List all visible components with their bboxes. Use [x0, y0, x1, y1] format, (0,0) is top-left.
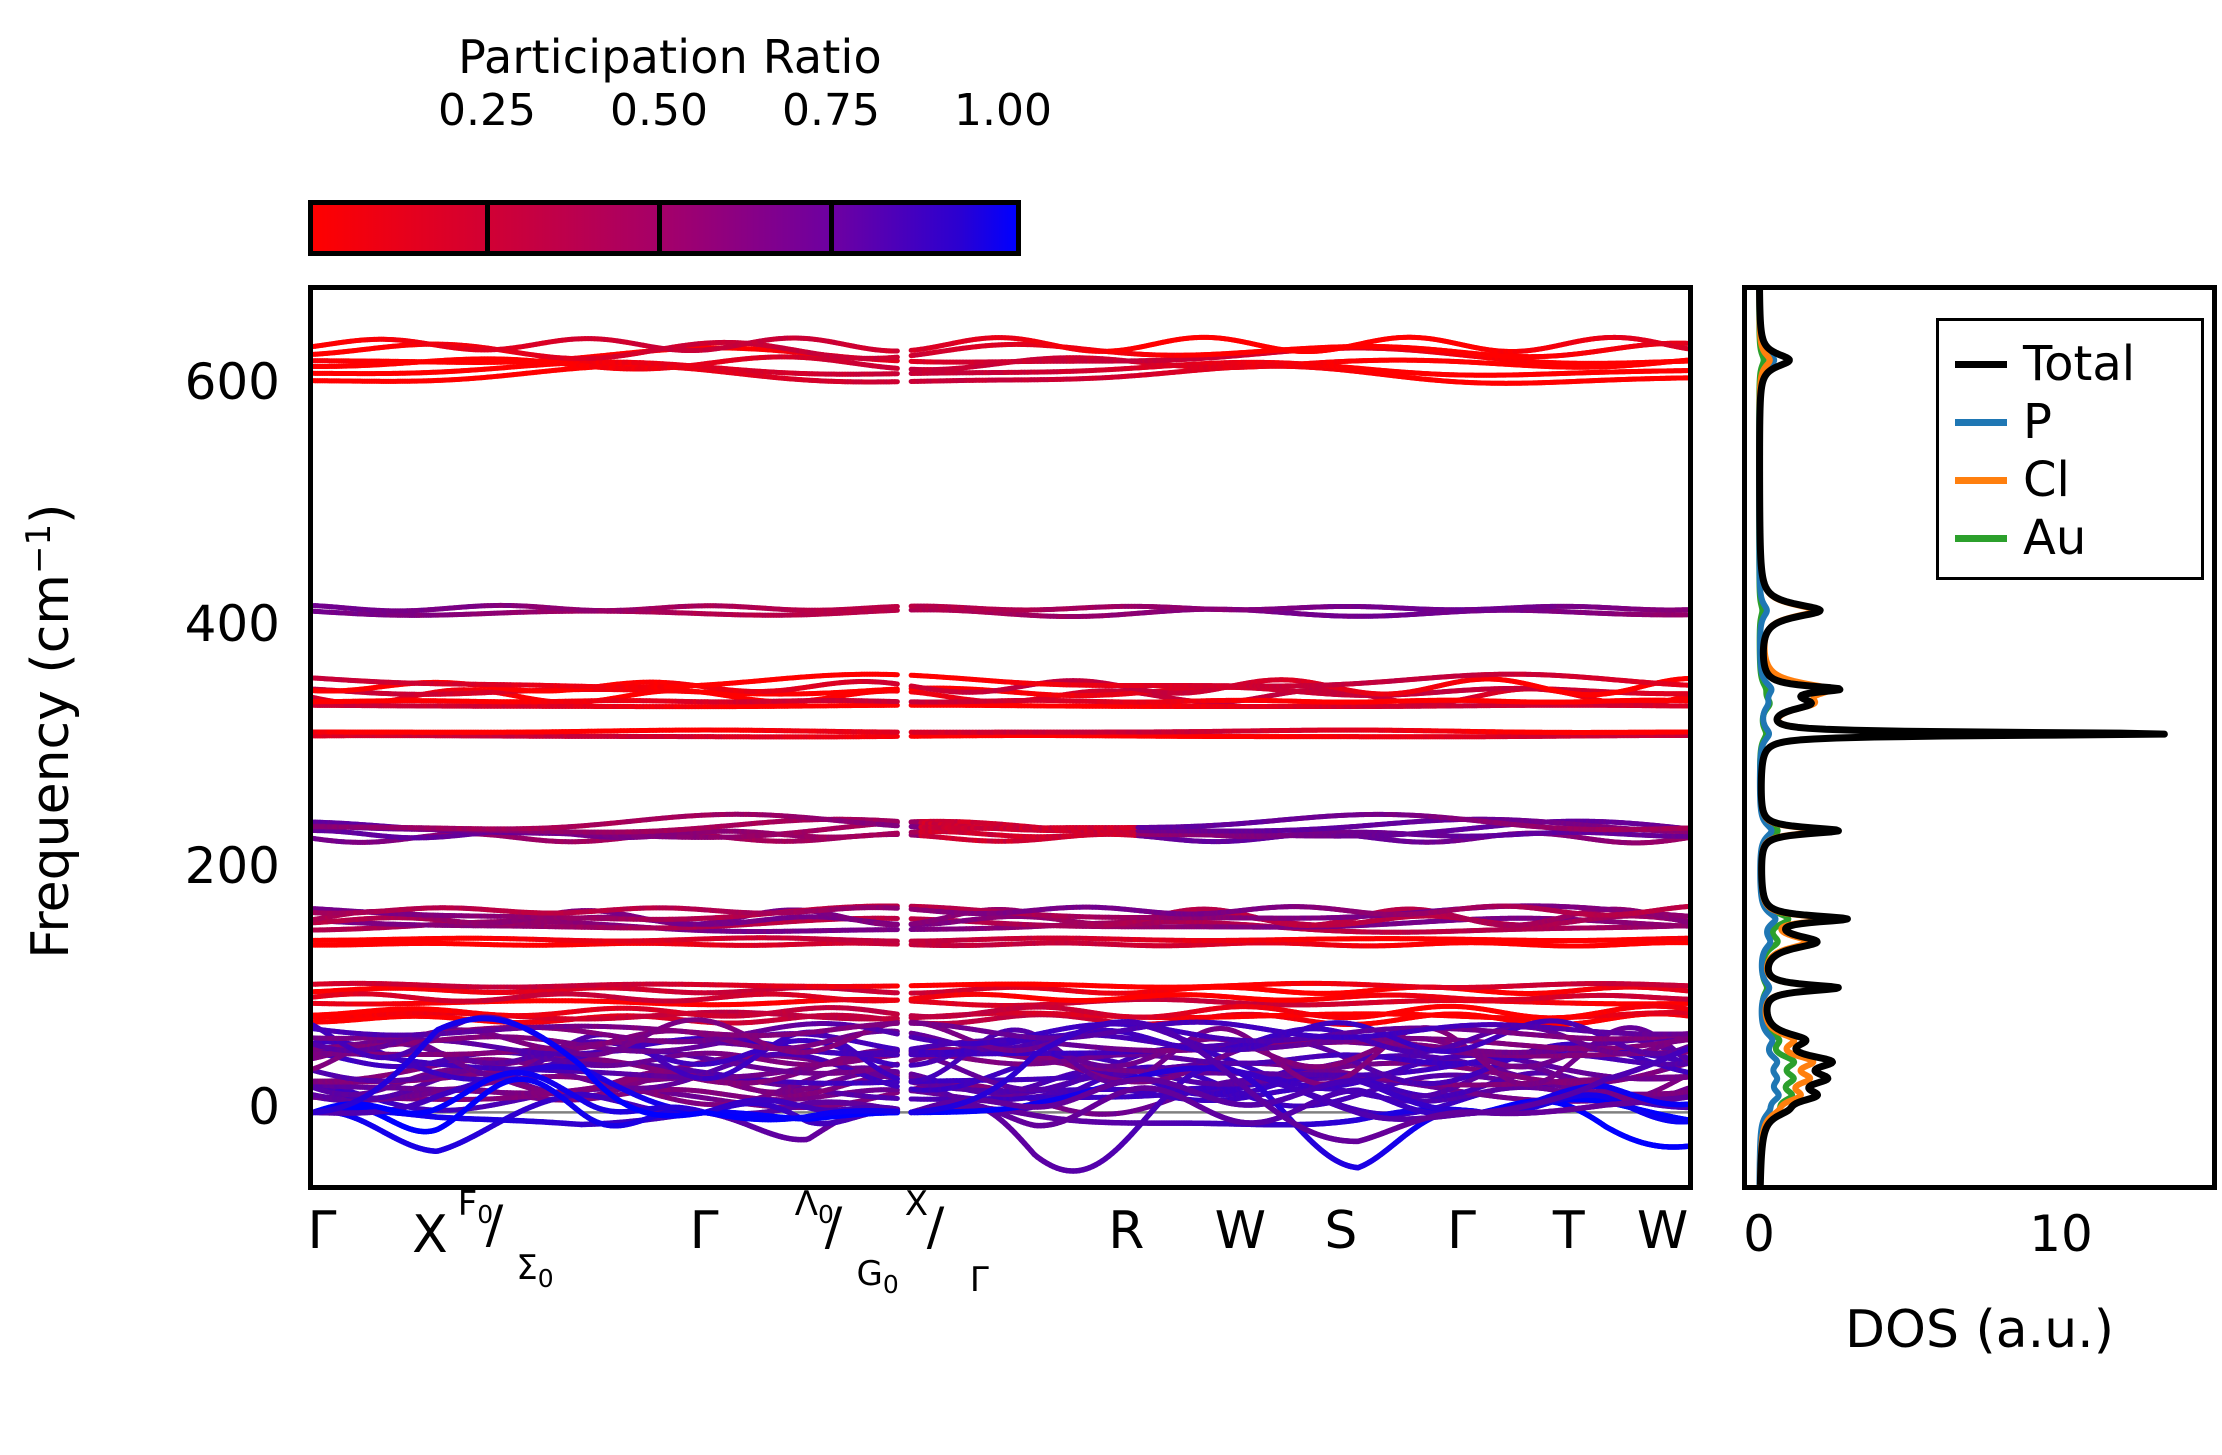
colorbar-tick-1.00: 1.00: [954, 85, 1052, 136]
band-structure-plot: [308, 285, 1693, 1190]
y-tick-400: 400: [50, 595, 280, 653]
colorbar-title: Participation Ratio: [310, 30, 1030, 84]
figure-canvas: Participation Ratio 0.250.500.751.00 Fre…: [0, 0, 2222, 1455]
phonon-bands: [313, 337, 1688, 1171]
band-structure-curves: [313, 290, 1688, 1185]
colorbar-tick-labels: 0.250.500.751.00: [310, 85, 1070, 133]
colorbar-tick-0.25: 0.25: [438, 85, 536, 136]
colorbar-tick-0.75: 0.75: [782, 85, 880, 136]
colorbar-tick-0.50: 0.50: [610, 85, 708, 136]
y-axis-tick-labels: 6004002000: [40, 285, 280, 1190]
colorbar-tick-mark: [485, 205, 490, 251]
y-tick-600: 600: [50, 353, 280, 411]
colorbar-tick-mark: [657, 205, 662, 251]
colorbar-gradient: [313, 205, 1016, 251]
colorbar: [308, 200, 1021, 256]
y-tick-200: 200: [50, 837, 280, 895]
colorbar-tick-mark: [829, 205, 834, 251]
y-tick-0: 0: [50, 1078, 280, 1136]
